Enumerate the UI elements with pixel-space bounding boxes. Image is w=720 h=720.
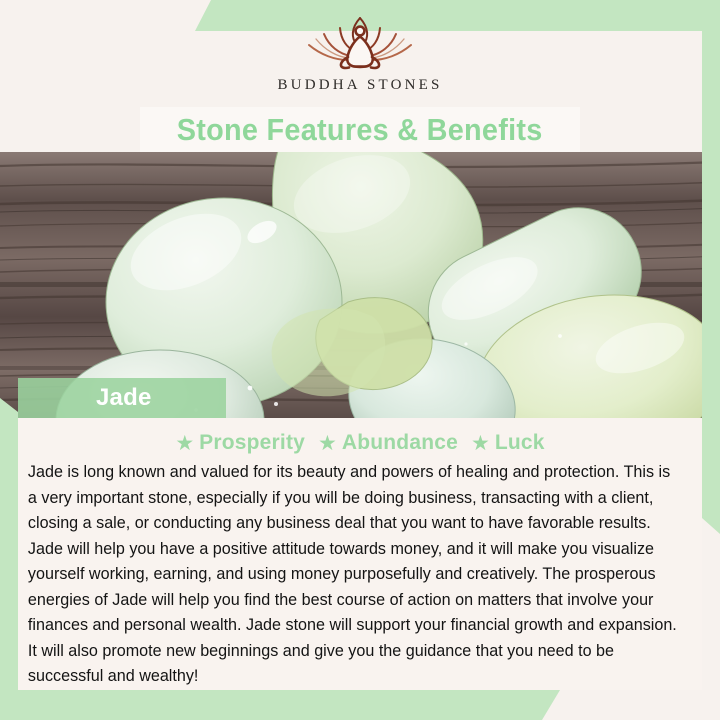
stone-name-label: Jade: [96, 384, 152, 412]
star-icon: ★: [175, 433, 194, 454]
infographic-page: BUDDHA STONES Stone Features & Benefits …: [0, 0, 720, 720]
frame-left-bar: [0, 398, 18, 720]
title-banner: Stone Features & Benefits: [140, 107, 580, 152]
brand-logo: BUDDHA STONES: [0, 0, 720, 110]
page-title: Stone Features & Benefits: [177, 112, 543, 148]
benefit-label: Luck: [495, 431, 545, 455]
benefits-row: ★ Prosperity ★ Abundance ★ Luck: [22, 428, 698, 458]
benefit-item-prosperity: ★ Prosperity: [175, 431, 305, 455]
brand-name: BUDDHA STONES: [277, 77, 442, 94]
benefit-item-luck: ★ Luck: [471, 431, 545, 455]
star-icon: ★: [318, 433, 337, 454]
star-icon: ★: [471, 433, 490, 454]
benefit-label: Prosperity: [199, 431, 305, 455]
lotus-meditation-icon: [285, 12, 435, 74]
frame-bottom-bar: [0, 690, 560, 720]
stone-name-band: Jade: [18, 378, 226, 418]
description-panel: ★ Prosperity ★ Abundance ★ Luck Jade is …: [18, 418, 702, 690]
description-text: Jade is long known and valued for its be…: [22, 460, 688, 690]
benefit-label: Abundance: [342, 431, 458, 455]
benefit-item-abundance: ★ Abundance: [318, 431, 458, 455]
